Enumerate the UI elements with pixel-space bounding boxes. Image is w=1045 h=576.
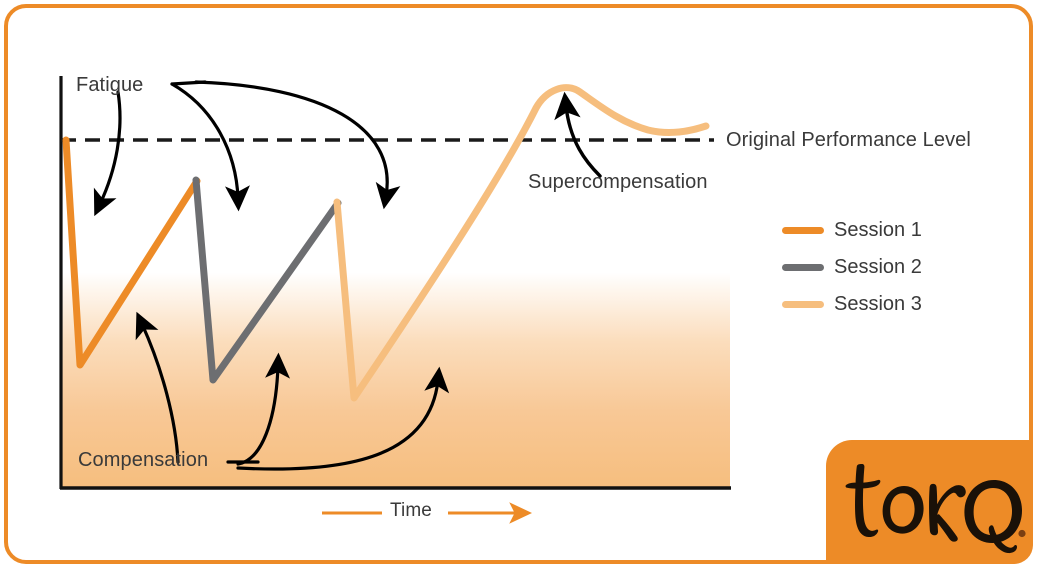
chart-legend: Session 1 Session 2 Session 3 xyxy=(782,212,1012,323)
annotation-label-original-performance-level: Original Performance Level xyxy=(726,129,971,152)
legend-swatch-session-1 xyxy=(782,227,824,234)
torq-logo-icon xyxy=(826,440,1033,564)
legend-label-session-3: Session 3 xyxy=(834,293,922,316)
annotation-label-supercompensation: Supercompensation xyxy=(528,171,708,194)
legend-item-session-1: Session 1 xyxy=(782,212,1012,249)
legend-label-session-1: Session 1 xyxy=(834,219,922,242)
supercompensation-chart-figure: Fatigue Original Performance Level Super… xyxy=(0,0,1045,576)
legend-swatch-session-2 xyxy=(782,264,824,271)
legend-item-session-2: Session 2 xyxy=(782,249,1012,286)
legend-label-session-2: Session 2 xyxy=(834,256,922,279)
annotation-label-compensation: Compensation xyxy=(78,449,208,472)
legend-swatch-session-3 xyxy=(782,301,824,308)
torq-logo-block xyxy=(826,440,1033,564)
annotation-label-fatigue: Fatigue xyxy=(76,74,143,97)
legend-item-session-3: Session 3 xyxy=(782,286,1012,323)
axis-label-time: Time xyxy=(390,500,432,522)
